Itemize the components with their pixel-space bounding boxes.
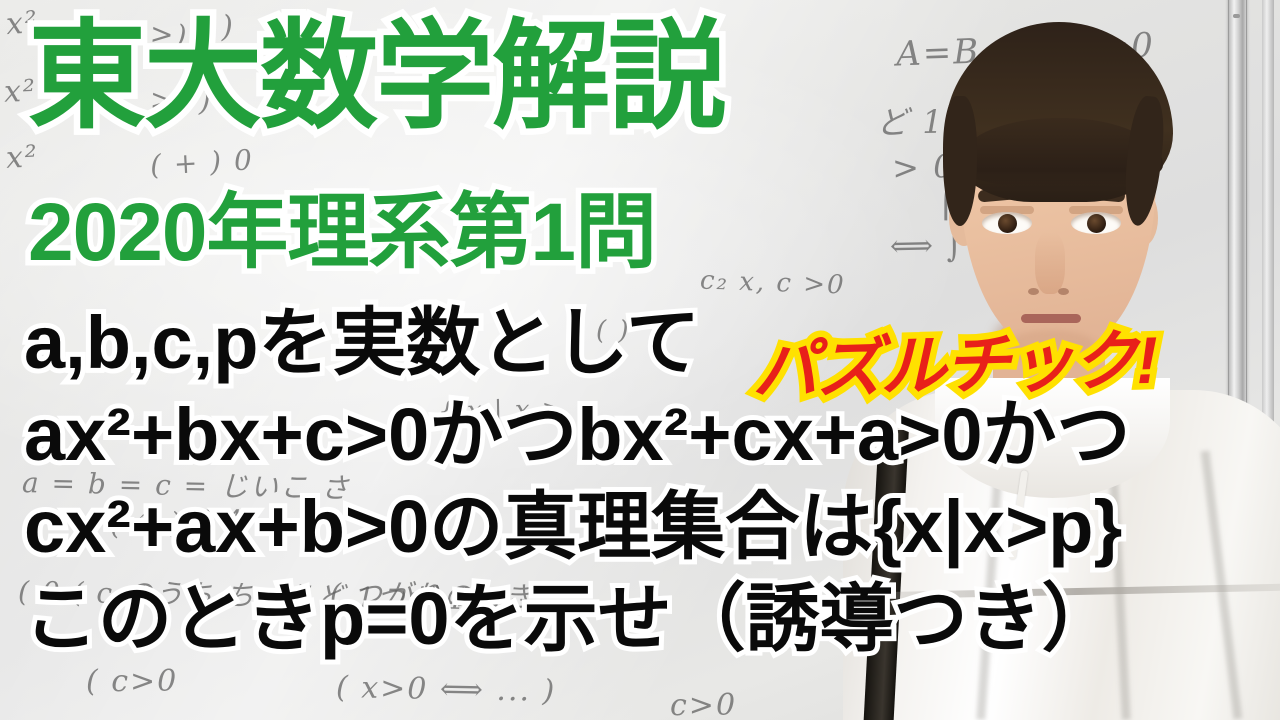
handwritten-note: ( c>0 — [86, 664, 178, 699]
handwritten-note: c>0 — [670, 688, 737, 720]
handwritten-note: ( + ) 0 — [149, 143, 254, 181]
handwritten-note: x² — [5, 139, 40, 176]
subtitle: 2020年理系第1問 — [28, 192, 656, 274]
nostril-right — [1058, 288, 1069, 295]
problem-line-2: ax²+bx+c>0かつbx²+cx+a>0かつ — [24, 398, 1131, 472]
nose — [1035, 232, 1065, 294]
handwritten-note: c₂ x, c >0 — [700, 265, 847, 300]
iris-right — [1087, 214, 1106, 233]
iris-left — [998, 214, 1017, 233]
nostril-left — [1028, 288, 1039, 295]
problem-line-3: cx²+ax+b>0の真理集合は{x|x>p} — [24, 490, 1122, 564]
handwritten-note: ( x>0 ⟺ ... ) — [336, 670, 557, 709]
status-badge: パズルチック! — [751, 307, 1157, 414]
video-thumbnail: x²x²-x²>)( )>( )( + ) 0A=B より p=0ど 1つが 1… — [0, 0, 1280, 720]
page-title: 東大数学解説 — [28, 18, 724, 136]
problem-line-4: このときp=0を示せ（誘導つき） — [24, 582, 1116, 656]
hair-sideburn-left — [943, 96, 977, 226]
eye-left — [982, 212, 1032, 234]
problem-line-1: a,b,c,pを実数として — [24, 306, 700, 380]
eye-right — [1071, 212, 1121, 234]
